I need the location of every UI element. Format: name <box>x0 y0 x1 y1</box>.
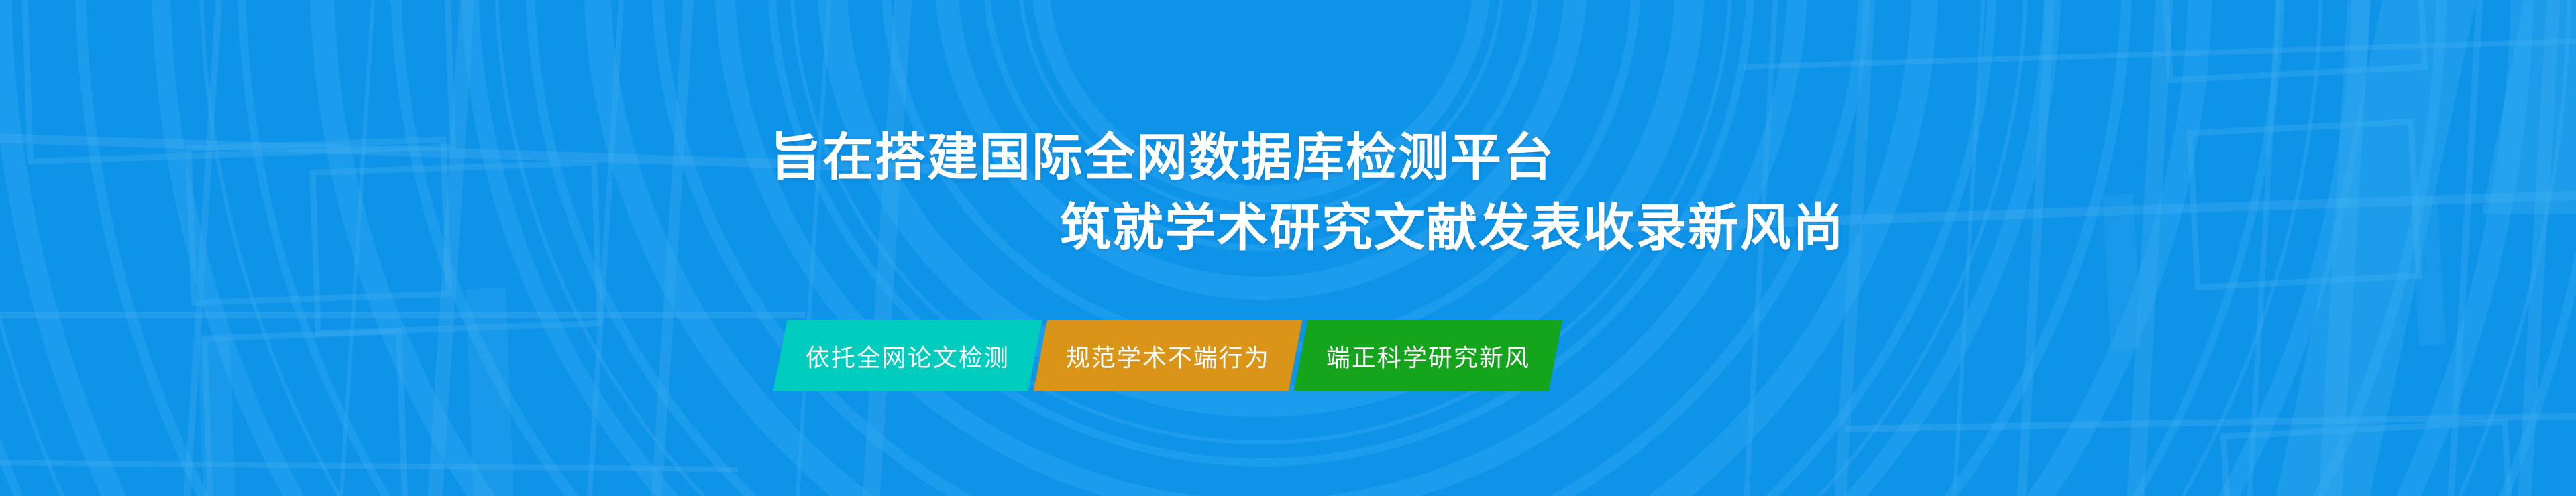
feature-tag-detection[interactable]: 依托全网论文检测 <box>773 320 1042 391</box>
promo-banner: 旨在搭建国际全网数据库检测平台 筑就学术研究文献发表收录新风尚 依托全网论文检测… <box>0 0 2576 496</box>
headline-primary: 旨在搭建国际全网数据库检测平台 <box>770 133 1555 184</box>
feature-tag-label: 依托全网论文检测 <box>780 338 1035 373</box>
feature-tag-misconduct[interactable]: 规范学术不端行为 <box>1034 320 1303 391</box>
headline-secondary: 筑就学术研究文献发表收录新风尚 <box>1060 203 1845 254</box>
feature-tag-ethics[interactable]: 端正科学研究新风 <box>1294 320 1563 391</box>
feature-tag-list: 依托全网论文检测 规范学术不端行为 端正科学研究新风 <box>780 320 1556 391</box>
banner-content: 旨在搭建国际全网数据库检测平台 筑就学术研究文献发表收录新风尚 依托全网论文检测… <box>0 0 2576 496</box>
feature-tag-label: 端正科学研究新风 <box>1301 338 1556 373</box>
feature-tag-label: 规范学术不端行为 <box>1040 338 1295 373</box>
